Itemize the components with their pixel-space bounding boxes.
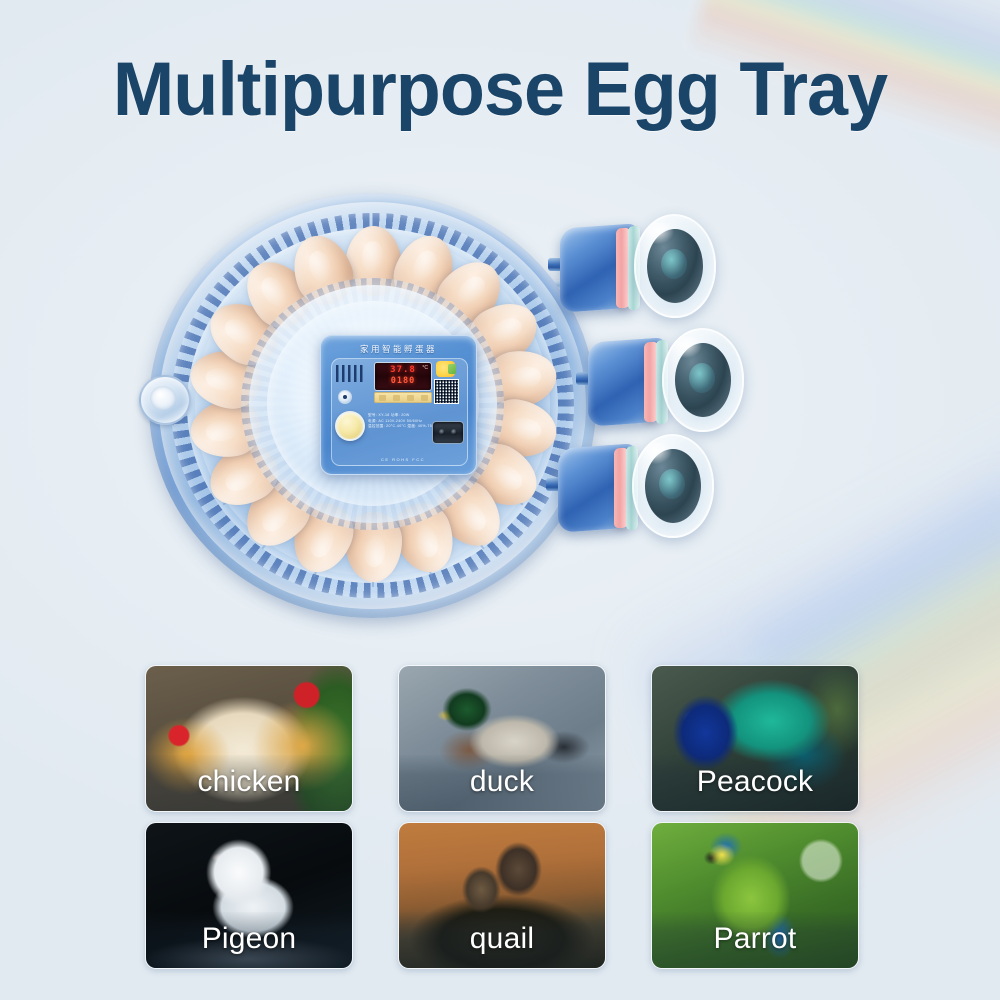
animal-label-pigeon: Pigeon (146, 912, 352, 968)
egg-candler-nozzle-1[interactable] (560, 212, 715, 324)
mode-button[interactable] (421, 395, 428, 401)
animal-card-chicken[interactable]: chicken (145, 665, 353, 812)
led-display: 37.8 °C 0180 (374, 362, 432, 391)
nozzle-highlight-3 (642, 442, 672, 464)
power-knob[interactable] (335, 411, 365, 441)
panel-button-row[interactable] (374, 392, 432, 403)
nozzle-glass-dome-2 (662, 328, 744, 432)
egg-candler-nozzle-2[interactable] (588, 326, 743, 438)
animal-card-quail[interactable]: quail (398, 822, 606, 969)
animal-card-peacock[interactable]: Peacock (651, 665, 859, 812)
panel-inner-bezel: 37.8 °C 0180 型号: XY (331, 358, 468, 466)
product-marketing-image: Multipurpose Egg Tray 家用智能孵蛋器 (0, 0, 1000, 1000)
chick-logo-icon (436, 361, 455, 377)
animal-label-chicken: chicken (146, 755, 352, 811)
control-panel[interactable]: 家用智能孵蛋器 37.8 °C 0180 (320, 335, 477, 475)
animal-card-duck[interactable]: duck (398, 665, 606, 812)
animal-type-grid: chickenduckPeacockPigeonquailParrot (145, 665, 857, 969)
spec-line-2: 温控范围: 20°C-40°C 湿度: 40%-75% (368, 424, 428, 430)
vent-slots-icon (336, 365, 366, 382)
indicator-led-icon (338, 390, 352, 404)
certification-marks: CE ROHS FCC (368, 457, 438, 462)
led-timer-value: 0180 (378, 376, 428, 386)
led-temperature-value: 37.8 (378, 365, 428, 375)
nozzle-highlight-1 (644, 222, 674, 244)
nozzle-glass-dome-1 (634, 214, 716, 318)
ac-power-socket[interactable] (432, 421, 464, 444)
animal-label-duck: duck (399, 755, 605, 811)
set-button[interactable] (379, 395, 386, 401)
up-button[interactable] (393, 395, 400, 401)
animal-card-parrot[interactable]: Parrot (651, 822, 859, 969)
egg-tray[interactable]: 家用智能孵蛋器 37.8 °C 0180 (145, 175, 600, 630)
nozzle-glass-dome-3 (632, 434, 714, 538)
nozzle-highlight-2 (672, 336, 702, 358)
animal-label-quail: quail (399, 912, 605, 968)
animal-label-parrot: Parrot (652, 912, 858, 968)
hero-product-photo: 家用智能孵蛋器 37.8 °C 0180 (0, 150, 1000, 650)
down-button[interactable] (407, 395, 414, 401)
water-fill-dial[interactable] (139, 375, 191, 425)
animal-label-peacock: Peacock (652, 755, 858, 811)
led-unit-label: °C (422, 365, 428, 371)
spec-text-block: 型号: XY-18 功率: 20W 电源: AC 110V-240V 50/60… (368, 413, 428, 430)
qr-code-icon[interactable] (434, 379, 459, 404)
panel-title-cn: 家用智能孵蛋器 (321, 343, 476, 355)
egg-candler-nozzle-3[interactable] (558, 432, 713, 544)
animal-card-pigeon[interactable]: Pigeon (145, 822, 353, 969)
page-title: Multipurpose Egg Tray (15, 52, 985, 128)
